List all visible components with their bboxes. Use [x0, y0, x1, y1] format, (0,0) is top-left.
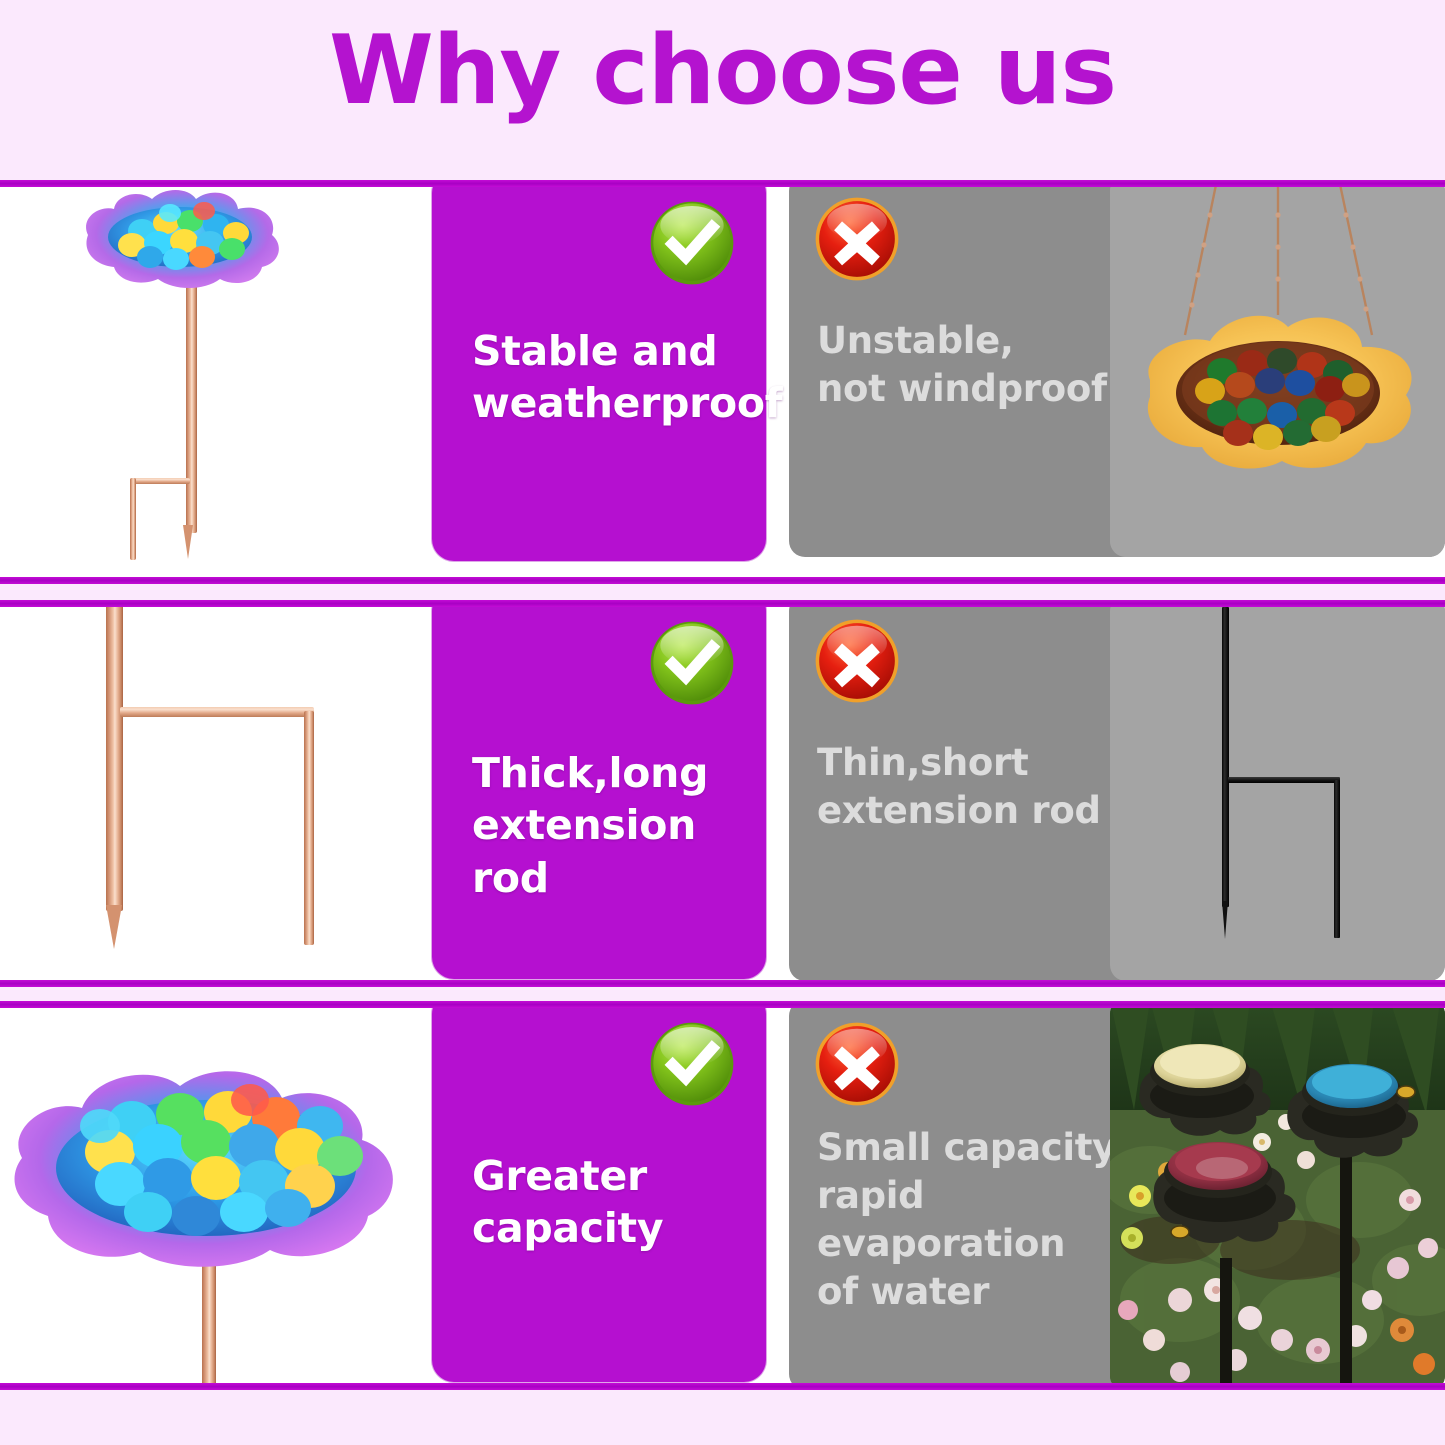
row-1-pro-side: Stable and weatherproof: [0, 183, 722, 580]
row-3-pro-image-card: [0, 1008, 430, 1386]
divider-row2-top: [0, 600, 1445, 607]
row-1-con-side: Unstable, not windproof: [723, 183, 1445, 580]
red-x-icon: [813, 195, 901, 283]
flower-birdbath-bowl: [70, 183, 310, 293]
extension-foot-vertical: [304, 711, 314, 945]
divider-row3-top: [0, 1001, 1445, 1008]
divider-row1-bottom: [0, 577, 1445, 584]
red-x-icon: [813, 1020, 901, 1108]
hanging-amber-dish-image: [1110, 183, 1445, 557]
row-2-con-image-card: [1110, 607, 1445, 981]
copper-stem: [202, 1262, 216, 1386]
garden-photo: [1110, 1008, 1445, 1386]
thin-foot-vertical: [1334, 780, 1340, 938]
comparison-row-2: Thick,long extension rod: [0, 607, 1445, 982]
row-3-con-image-card: [1110, 1008, 1445, 1386]
row-1-pro-label: Stable and weatherproof: [472, 325, 762, 430]
page-title: Why choose us: [0, 22, 1445, 122]
row-1-pro-panel: Stable and weatherproof: [432, 183, 766, 561]
thin-foot-horizontal: [1228, 777, 1340, 783]
row-1-con-label: Unstable, not windproof: [817, 317, 1147, 413]
row-1-pro-image-card: [0, 183, 430, 580]
copper-rod-tip: [183, 525, 193, 559]
row-3-pro-side: Greater capacity: [0, 1008, 722, 1386]
infographic-page: Why choose us: [0, 0, 1445, 1445]
thick-copper-rod-tip: [106, 905, 122, 949]
thick-copper-rod: [106, 607, 123, 911]
row-2-pro-image-card: [0, 607, 430, 982]
divider-top: [0, 180, 1445, 187]
row-2-pro-panel: Thick,long extension rod: [432, 607, 766, 979]
stake-foot-horizontal: [130, 478, 190, 484]
comparison-row-1: Stable and weatherproof: [0, 183, 1445, 580]
divider-row2-bottom: [0, 980, 1445, 987]
thin-black-rod-tip: [1222, 901, 1228, 939]
large-flower-bowl: [0, 1060, 420, 1276]
bottom-band: [0, 1390, 1445, 1445]
row-2-pro-side: Thick,long extension rod: [0, 607, 722, 982]
row-1-con-image-card: [1110, 183, 1445, 557]
comparison-row-3: Greater capacity: [0, 1008, 1445, 1386]
stake-foot-vertical: [130, 478, 136, 560]
copper-rod: [186, 265, 197, 533]
divider-bottom: [0, 1383, 1445, 1390]
extension-foot-horizontal: [120, 707, 314, 717]
thin-black-rod: [1222, 607, 1229, 907]
row-3-pro-panel: Greater capacity: [432, 1008, 766, 1382]
row-2-con-label: Thin,short extension rod: [817, 739, 1147, 835]
red-x-icon: [813, 617, 901, 705]
row-2-con-side: Thin,short extension rod: [723, 607, 1445, 982]
title-bar: Why choose us: [0, 0, 1445, 183]
row-3-con-side: Small capacity, rapid evaporation of wat…: [723, 1008, 1445, 1386]
